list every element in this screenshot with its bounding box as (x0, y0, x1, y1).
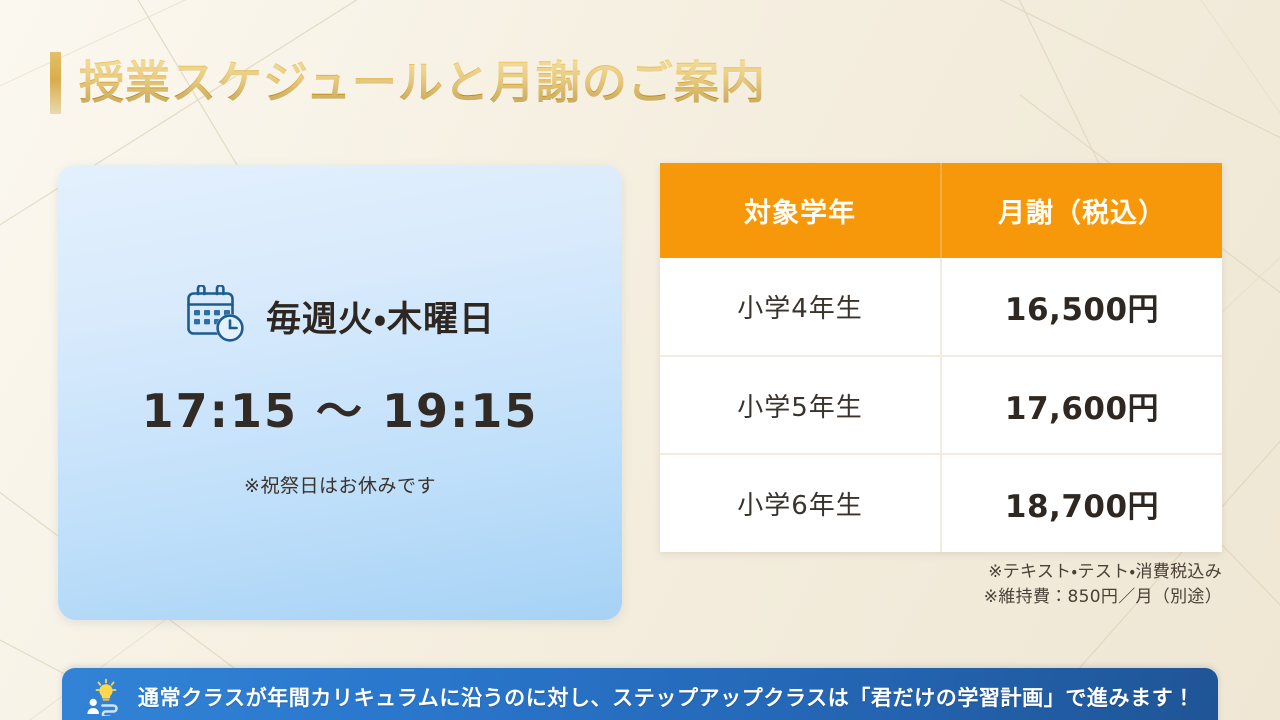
fee-row-grade: 小学6年生 (660, 454, 941, 552)
fee-row-grade: 小学5年生 (660, 356, 941, 454)
fee-note-maintenance: ※維持費：850円／月（別途） (660, 585, 1222, 610)
fee-row-amount: 17,600円 (941, 356, 1222, 454)
schedule-days-text: 毎週火・木曜日 (266, 291, 495, 342)
fee-row-amount: 16,500円 (941, 258, 1222, 356)
table-row: 小学4年生 16,500円 (660, 258, 1222, 356)
fee-table-header-row: 対象学年 月謝（税込） (660, 163, 1222, 258)
fee-row-amount: 18,700円 (941, 454, 1222, 552)
fee-table: 対象学年 月謝（税込） 小学4年生 16,500円 小学5年生 17,600円 … (660, 163, 1222, 552)
title-accent-bar (50, 52, 61, 114)
slide-canvas: 授業スケジュールと月謝のご案内 (0, 0, 1280, 720)
schedule-time-text: 17:15 ～ 19:15 (142, 375, 539, 441)
fee-row-grade: 小学4年生 (660, 258, 941, 356)
fee-table-header-grade: 対象学年 (660, 163, 941, 258)
fee-note-tax: ※テキスト・テスト・消費税込み (660, 560, 1222, 585)
fee-table-notes: ※テキスト・テスト・消費税込み ※維持費：850円／月（別途） (660, 560, 1222, 609)
table-row: 小学5年生 17,600円 (660, 356, 1222, 454)
title-text: 授業スケジュールと月謝のご案内 (79, 59, 766, 106)
bottom-banner: 通常クラスが年間カリキュラムに沿うのに対し、ステップアップクラスは「君だけの学習… (62, 668, 1218, 720)
banner-text: 通常クラスが年間カリキュラムに沿うのに対し、ステップアップクラスは「君だけの学習… (138, 682, 1195, 712)
schedule-days-row: 毎週火・木曜日 (185, 285, 495, 347)
fee-table-header-fee: 月謝（税込） (941, 163, 1222, 258)
person-idea-lightbulb-icon (84, 678, 124, 716)
calendar-clock-icon (185, 285, 249, 347)
schedule-holiday-note: ※祝祭日はお休みです (244, 471, 436, 498)
page-title: 授業スケジュールと月謝のご案内 (50, 52, 766, 114)
schedule-card: 毎週火・木曜日 17:15 ～ 19:15 ※祝祭日はお休みです (58, 165, 622, 620)
table-row: 小学6年生 18,700円 (660, 454, 1222, 552)
